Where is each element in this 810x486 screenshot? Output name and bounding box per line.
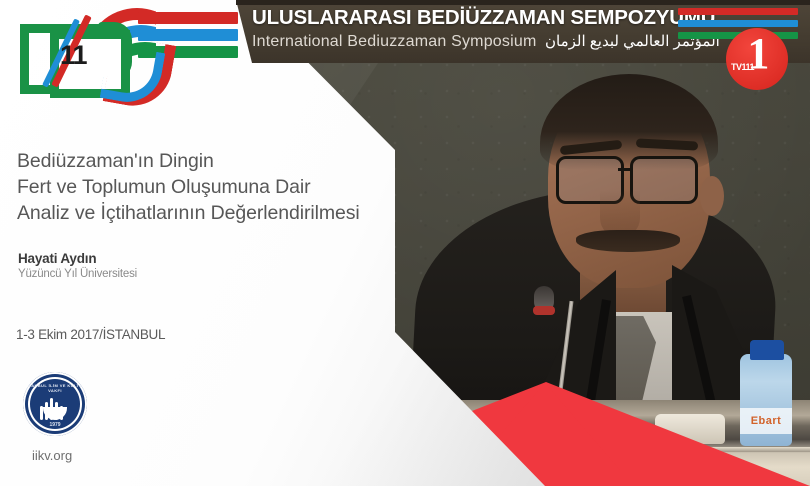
broadcaster-stripe-blue	[678, 20, 798, 27]
broadcaster-logo: TV111 1	[726, 28, 788, 90]
organizer-website[interactable]: iikv.org	[32, 448, 72, 463]
seal-year: 1979	[23, 422, 87, 428]
event-banner-top-edge	[236, 0, 810, 5]
organizer-logo: İSTANBUL İLİM VE KÜLTÜR VAKFI 1979 iikv.…	[23, 372, 87, 436]
broadcaster-stripe-red	[678, 8, 798, 15]
microphone-ring	[533, 306, 555, 315]
presentation-title-line-1: Bediüzzaman'ın Dingin	[17, 148, 360, 174]
seal-tulip-emblem	[40, 394, 70, 420]
event-title-turkish: ULUSLARARASI BEDİÜZZAMAN SEMPOZYUMU	[252, 6, 715, 30]
eyeglass-lens-right	[630, 156, 698, 204]
speaker-name: Hayati Aydın	[18, 251, 96, 266]
video-frame: Ebart ULUSLARARASI BEDİÜZZAMAN SEMPOZYUM…	[0, 0, 810, 486]
iikv-seal-icon: İSTANBUL İLİM VE KÜLTÜR VAKFI 1979	[23, 372, 87, 436]
presentation-title-line-3: Analiz ve İçtihatlarının Değerlendirilme…	[17, 200, 360, 226]
speaker-moustache	[576, 230, 680, 252]
water-bottle-label: Ebart	[740, 408, 792, 434]
presentation-title: Bediüzzaman'ın Dingin Fert ve Toplumun O…	[17, 148, 360, 226]
speaker-affiliation: Yüzüncü Yıl Üniversitesi	[18, 268, 137, 280]
logo-edition-number: 11	[60, 40, 87, 71]
symposium-edition-logo: 11	[14, 14, 184, 90]
event-title-english: International Bediuzzaman Symposium	[252, 33, 536, 51]
event-date-location: 1-3 Ekim 2017/İSTANBUL	[16, 327, 165, 342]
presentation-title-line-2: Fert ve Toplumun Oluşumuna Dair	[17, 174, 360, 200]
broadcaster-channel-number: 1	[747, 32, 769, 76]
water-bottle-cap	[750, 340, 784, 360]
